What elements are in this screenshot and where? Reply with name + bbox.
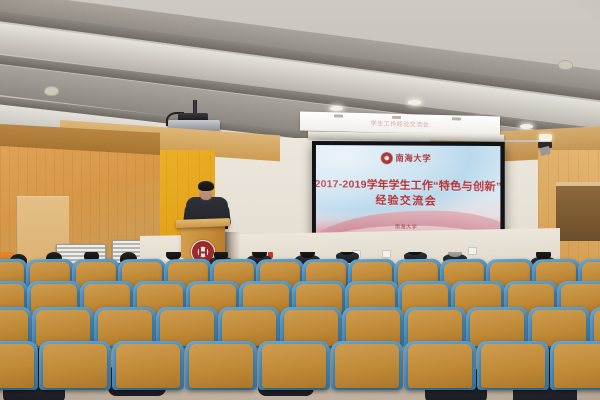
seat[interactable] — [481, 344, 545, 388]
seat-back — [189, 344, 253, 388]
seat-back — [408, 344, 472, 388]
banner-text: 学生工作经验交流会 — [371, 118, 430, 128]
seat[interactable] — [0, 344, 34, 388]
seat-cushion — [477, 341, 549, 390]
right-column-recess — [556, 186, 600, 241]
wall-light-icon — [539, 134, 552, 141]
seat-back — [554, 344, 600, 388]
slide-logo: 南海大学 — [381, 153, 431, 165]
seat-cushion — [185, 341, 257, 390]
seat[interactable] — [43, 344, 107, 388]
seat[interactable] — [335, 344, 399, 388]
seat-cushion — [112, 341, 184, 390]
seat-back — [262, 344, 326, 388]
seat-cushion — [0, 341, 38, 390]
seat-cushion — [550, 341, 600, 390]
smoke-detector-icon — [44, 86, 59, 96]
smoke-detector-icon — [558, 60, 573, 70]
seat[interactable] — [262, 344, 326, 388]
seat-cushion — [39, 341, 111, 390]
auditorium-photo: 学生工作经验交流会 南海大学 2017-2019学年学生工作“特色与创新” 经验… — [0, 0, 600, 400]
seat-back — [43, 344, 107, 388]
slide-organization: 南海大学 — [395, 223, 417, 231]
downlight-icon — [408, 100, 421, 105]
seat-cushion — [404, 341, 476, 390]
seat-back — [481, 344, 545, 388]
seat-cushion — [258, 341, 330, 390]
slide-title-line-2: 经验交流会 — [375, 192, 437, 209]
seat[interactable] — [189, 344, 253, 388]
downlight-icon — [520, 124, 533, 129]
slide-title-line-1: 2017-2019学年学生工作“特色与创新” — [316, 176, 500, 194]
banner-clip-icon — [392, 116, 401, 119]
seat-back — [116, 344, 180, 388]
downlight-icon — [330, 106, 343, 111]
banner-clip-icon — [334, 114, 343, 117]
speaker-hair — [198, 181, 214, 191]
seat[interactable] — [554, 344, 600, 388]
seat-back — [0, 344, 34, 388]
slide-logo-text: 南海大学 — [396, 153, 432, 165]
seat[interactable] — [408, 344, 472, 388]
university-seal-icon — [381, 153, 392, 164]
audience-seating — [0, 252, 600, 400]
seat[interactable] — [116, 344, 180, 388]
banner-clip-icon — [452, 117, 461, 120]
seat-cushion — [331, 341, 403, 390]
seat-back — [335, 344, 399, 388]
